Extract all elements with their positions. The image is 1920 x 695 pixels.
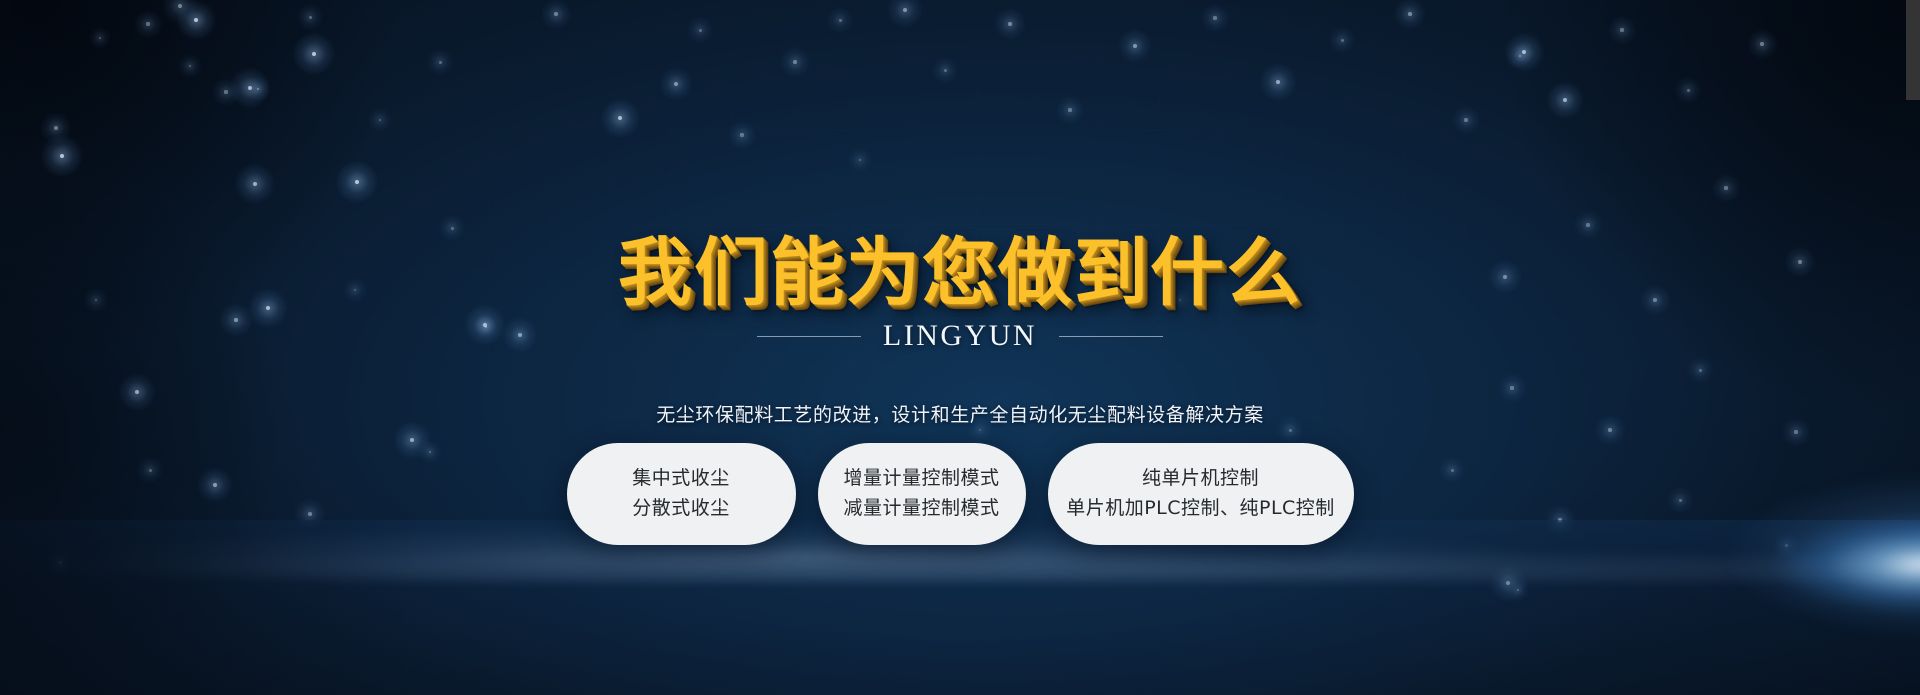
star-particle	[1408, 12, 1412, 16]
star-particle	[257, 88, 260, 91]
pill-line-1: 增量计量控制模式	[844, 467, 1000, 491]
star-particle	[1289, 429, 1292, 432]
page-title: 我们能为您做到什么	[0, 236, 1920, 310]
star-particle	[1068, 108, 1071, 111]
star-particle	[1620, 28, 1623, 31]
scrollbar-thumb[interactable]	[1906, 0, 1920, 100]
star-particle	[1699, 369, 1702, 372]
star-particle	[1519, 55, 1522, 58]
star-particle	[451, 227, 454, 230]
star-particle	[1133, 44, 1137, 48]
star-particle	[740, 133, 743, 136]
brand-name: LINGYUN	[883, 319, 1037, 353]
star-particle	[944, 69, 947, 72]
feature-pill-control-system[interactable]: 纯单片机控制 单片机加PLC控制、纯PLC控制	[1048, 443, 1354, 545]
star-particle	[253, 182, 258, 187]
hero-banner: 我们能为您做到什么 LINGYUN 无尘环保配料工艺的改进，设计和生产全自动化无…	[0, 0, 1920, 695]
star-particle	[135, 390, 139, 394]
star-particle	[146, 22, 149, 25]
star-particle	[194, 18, 198, 22]
star-particle	[410, 438, 414, 442]
star-particle	[554, 12, 557, 15]
star-particle	[859, 159, 862, 162]
star-particle	[674, 82, 678, 86]
star-particle	[189, 65, 192, 68]
star-particle	[99, 37, 102, 40]
feature-pill-dust-collection[interactable]: 集中式收尘 分散式收尘	[567, 443, 796, 545]
star-particle	[1276, 80, 1280, 84]
star-particle	[312, 52, 317, 57]
star-particle	[1586, 223, 1589, 226]
page-subtitle: 无尘环保配料工艺的改进，设计和生产全自动化无尘配料设备解决方案	[0, 400, 1920, 427]
star-particle	[1213, 16, 1216, 19]
star-particle	[1510, 386, 1513, 389]
divider-line-right	[1059, 336, 1163, 337]
star-particle	[309, 16, 312, 19]
pill-line-1: 纯单片机控制	[1142, 467, 1259, 491]
star-particle	[224, 90, 227, 93]
pill-line-2: 减量计量控制模式	[844, 497, 1000, 521]
star-particle	[1341, 39, 1344, 42]
star-particle	[618, 116, 622, 120]
perspective-mesh	[0, 520, 1920, 695]
star-particle	[1608, 428, 1611, 431]
divider-line-left	[757, 336, 861, 337]
star-particle	[1563, 98, 1567, 102]
star-particle	[54, 126, 58, 130]
pill-line-2: 单片机加PLC控制、纯PLC控制	[1066, 497, 1335, 521]
star-particle	[903, 8, 907, 12]
star-particle	[1008, 22, 1012, 26]
brand-row: LINGYUN	[0, 319, 1920, 353]
feature-pill-metering-mode[interactable]: 增量计量控制模式 减量计量控制模式	[818, 443, 1026, 545]
star-particle	[60, 154, 65, 159]
star-particle	[1794, 430, 1797, 433]
star-particle	[699, 29, 702, 32]
star-particle	[839, 19, 842, 22]
star-particle	[355, 180, 360, 185]
star-particle	[1464, 118, 1467, 121]
star-particle	[1760, 42, 1763, 45]
pill-line-2: 分散式收尘	[632, 497, 730, 521]
star-particle	[1724, 186, 1727, 189]
star-particle	[793, 60, 796, 63]
star-particle	[379, 119, 382, 122]
pill-line-1: 集中式收尘	[632, 467, 730, 491]
star-particle	[979, 429, 982, 432]
star-particle	[1687, 89, 1690, 92]
star-particle	[439, 61, 442, 64]
feature-pill-list: 集中式收尘 分散式收尘 增量计量控制模式 减量计量控制模式 纯单片机控制 单片机…	[0, 443, 1920, 545]
